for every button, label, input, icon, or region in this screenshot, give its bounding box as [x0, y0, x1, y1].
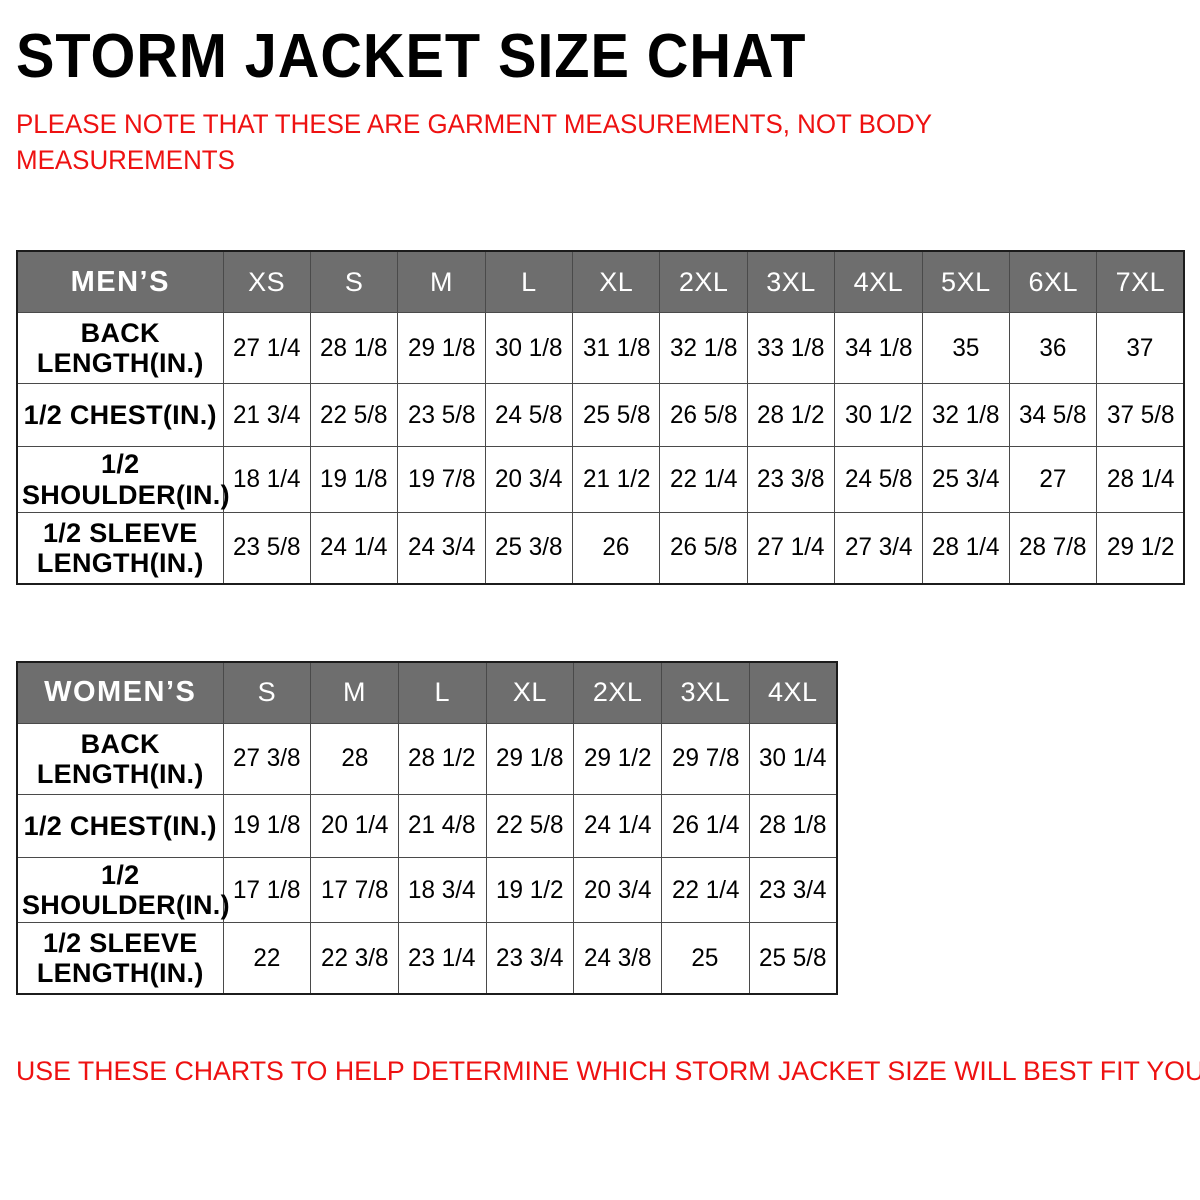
cell: 24 1/4 — [310, 512, 397, 584]
cell: 24 5/8 — [835, 447, 922, 512]
table-row: BACK LENGTH(IN.) 27 1/4 28 1/8 29 1/8 30… — [17, 313, 1184, 384]
mens-table-head: MEN’S XS S M L XL 2XL 3XL 4XL 5XL 6XL 7X… — [17, 251, 1184, 313]
cell: 33 1/8 — [747, 313, 834, 384]
womens-row-label-half-chest: 1/2 CHEST(IN.) — [17, 794, 223, 857]
value: 18 3/4 — [408, 876, 475, 905]
cell: 26 1/4 — [661, 794, 749, 857]
value: 28 1/8 — [320, 334, 387, 363]
mens-col-l: L — [485, 251, 572, 313]
cell: 20 3/4 — [485, 447, 572, 512]
cell: 25 — [661, 923, 749, 995]
value: 22 5/8 — [496, 811, 563, 840]
mens-size-table: MEN’S XS S M L XL 2XL 3XL 4XL 5XL 6XL 7X… — [16, 250, 1185, 584]
cell: 24 3/8 — [574, 923, 662, 995]
womens-table-head: WOMEN’S S M L XL 2XL 3XL 4XL — [17, 662, 837, 724]
label-line-1: BACK — [81, 318, 160, 348]
value: 30 1/8 — [495, 334, 562, 363]
value: 23 5/8 — [408, 401, 475, 430]
cell: 21 3/4 — [223, 384, 310, 447]
value: 29 1/2 — [584, 744, 651, 773]
cell: 20 3/4 — [574, 857, 662, 922]
cell: 36 — [1010, 313, 1097, 384]
mens-col-m: M — [398, 251, 485, 313]
mens-corner-label: MEN’S — [17, 251, 223, 313]
cell: 27 1/4 — [747, 512, 834, 584]
cell: 17 1/8 — [223, 857, 311, 922]
cell: 28 1/8 — [310, 313, 397, 384]
value: 28 7/8 — [1019, 533, 1086, 562]
value: 23 1/4 — [408, 944, 475, 973]
cell: 22 3/8 — [311, 923, 399, 995]
value: 23 5/8 — [233, 533, 300, 562]
mens-col-xl: XL — [573, 251, 660, 313]
value: 20 1/4 — [321, 811, 388, 840]
cell: 25 5/8 — [573, 384, 660, 447]
value: 29 1/8 — [408, 334, 475, 363]
table-row: 1/2 SLEEVE LENGTH(IN.) 23 5/8 24 1/4 24 … — [17, 512, 1184, 584]
mens-row-label-half-chest: 1/2 CHEST(IN.) — [17, 384, 223, 447]
cell: 29 1/8 — [486, 723, 574, 794]
cell: 18 1/4 — [223, 447, 310, 512]
cell: 22 1/4 — [660, 447, 747, 512]
value: 25 3/4 — [932, 465, 999, 494]
cell: 22 5/8 — [486, 794, 574, 857]
cell: 23 1/4 — [398, 923, 486, 995]
cell: 29 1/2 — [1097, 512, 1184, 584]
value: 28 — [341, 744, 368, 773]
value: 21 1/2 — [583, 465, 650, 494]
value: 22 1/4 — [672, 876, 739, 905]
size-chart-page: STORM JACKET SIZE CHAT PLEASE NOTE THAT … — [0, 0, 1200, 1200]
cell: 37 — [1097, 313, 1184, 384]
cell: 25 3/8 — [485, 512, 572, 584]
mens-header-row: MEN’S XS S M L XL 2XL 3XL 4XL 5XL 6XL 7X… — [17, 251, 1184, 313]
page-title: STORM JACKET SIZE CHAT — [16, 0, 1102, 89]
cell: 23 3/4 — [749, 857, 837, 922]
mens-col-xs: XS — [223, 251, 310, 313]
value: 28 1/4 — [1107, 465, 1174, 494]
value: 18 1/4 — [233, 465, 300, 494]
mens-col-5xl: 5XL — [922, 251, 1009, 313]
cell: 29 7/8 — [661, 723, 749, 794]
womens-col-3xl: 3XL — [661, 662, 749, 724]
value: 19 1/2 — [496, 876, 563, 905]
footer-note: USE THESE CHARTS TO HELP DETERMINE WHICH… — [16, 1055, 1200, 1087]
cell: 20 1/4 — [311, 794, 399, 857]
cell: 21 4/8 — [398, 794, 486, 857]
table-row: 1/2 SHOULDER(IN.) 17 1/8 17 7/8 18 3/4 1… — [17, 857, 837, 922]
mens-col-s: S — [310, 251, 397, 313]
cell: 26 5/8 — [660, 384, 747, 447]
cell: 17 7/8 — [311, 857, 399, 922]
cell: 27 — [1010, 447, 1097, 512]
cell: 24 3/4 — [398, 512, 485, 584]
value: 27 1/4 — [757, 533, 824, 562]
value: 26 — [603, 533, 630, 562]
value: 29 1/2 — [1107, 533, 1174, 562]
cell: 18 3/4 — [398, 857, 486, 922]
cell: 29 1/2 — [574, 723, 662, 794]
womens-row-label-half-shoulder: 1/2 SHOULDER(IN.) — [17, 857, 223, 922]
table-row: 1/2 CHEST(IN.) 19 1/8 20 1/4 21 4/8 22 5… — [17, 794, 837, 857]
value: 19 1/8 — [233, 811, 300, 840]
womens-col-m: M — [311, 662, 399, 724]
womens-row-label-half-sleeve-length: 1/2 SLEEVE LENGTH(IN.) — [17, 923, 223, 995]
cell: 30 1/8 — [485, 313, 572, 384]
mens-row-label-half-sleeve-length: 1/2 SLEEVE LENGTH(IN.) — [17, 512, 223, 584]
value: 24 5/8 — [845, 465, 912, 494]
label-line-1: 1/2 CHEST(IN.) — [24, 811, 217, 841]
womens-header-row: WOMEN’S S M L XL 2XL 3XL 4XL — [17, 662, 837, 724]
cell: 23 3/4 — [486, 923, 574, 995]
value: 30 1/2 — [845, 401, 912, 430]
cell: 22 5/8 — [310, 384, 397, 447]
label-line-1: 1/2 SHOULDER(IN.) — [22, 449, 230, 509]
value: 30 1/4 — [759, 744, 826, 773]
cell: 19 7/8 — [398, 447, 485, 512]
mens-col-6xl: 6XL — [1010, 251, 1097, 313]
womens-col-s: S — [223, 662, 311, 724]
cell: 26 — [573, 512, 660, 584]
womens-size-table: WOMEN’S S M L XL 2XL 3XL 4XL BACK LENGTH… — [16, 661, 838, 995]
value: 22 1/4 — [670, 465, 737, 494]
value: 25 5/8 — [759, 944, 826, 973]
value: 27 3/4 — [845, 533, 912, 562]
cell: 34 5/8 — [1010, 384, 1097, 447]
value: 27 3/8 — [233, 744, 300, 773]
cell: 19 1/8 — [223, 794, 311, 857]
womens-table-body: BACK LENGTH(IN.) 27 3/8 28 28 1/2 29 1/8… — [17, 723, 837, 994]
cell: 28 1/4 — [922, 512, 1009, 584]
value: 26 5/8 — [670, 533, 737, 562]
value: 23 3/8 — [757, 465, 824, 494]
value: 34 1/8 — [845, 334, 912, 363]
cell: 23 5/8 — [223, 512, 310, 584]
mens-row-label-back-length: BACK LENGTH(IN.) — [17, 313, 223, 384]
cell: 30 1/4 — [749, 723, 837, 794]
cell: 27 3/4 — [835, 512, 922, 584]
cell: 25 3/4 — [922, 447, 1009, 512]
cell: 22 — [223, 923, 311, 995]
cell: 19 1/2 — [486, 857, 574, 922]
value: 17 1/8 — [233, 876, 300, 905]
value: 27 1/4 — [233, 334, 300, 363]
value: 23 3/4 — [759, 876, 826, 905]
mens-table-body: BACK LENGTH(IN.) 27 1/4 28 1/8 29 1/8 30… — [17, 313, 1184, 584]
value: 21 3/4 — [233, 401, 300, 430]
womens-col-xl: XL — [486, 662, 574, 724]
label-line-2: LENGTH(IN.) — [37, 348, 204, 378]
cell: 28 1/2 — [747, 384, 834, 447]
mens-col-7xl: 7XL — [1097, 251, 1184, 313]
table-row: BACK LENGTH(IN.) 27 3/8 28 28 1/2 29 1/8… — [17, 723, 837, 794]
womens-col-l: L — [398, 662, 486, 724]
value: 19 1/8 — [320, 465, 387, 494]
cell: 34 1/8 — [835, 313, 922, 384]
cell: 31 1/8 — [573, 313, 660, 384]
value: 28 1/4 — [932, 533, 999, 562]
value: 35 — [952, 334, 979, 363]
label-line-1: 1/2 SLEEVE — [43, 928, 198, 958]
label-line-2: LENGTH(IN.) — [37, 759, 204, 789]
label-line-1: BACK — [81, 729, 160, 759]
value: 34 5/8 — [1019, 401, 1086, 430]
cell: 24 5/8 — [485, 384, 572, 447]
value: 24 1/4 — [320, 533, 387, 562]
table-row: 1/2 CHEST(IN.) 21 3/4 22 5/8 23 5/8 24 5… — [17, 384, 1184, 447]
cell: 19 1/8 — [310, 447, 397, 512]
value: 32 1/8 — [932, 401, 999, 430]
cell: 26 5/8 — [660, 512, 747, 584]
value: 22 3/8 — [321, 944, 388, 973]
value: 20 3/4 — [584, 876, 651, 905]
label-line-1: 1/2 SHOULDER(IN.) — [22, 860, 230, 920]
cell: 32 1/8 — [660, 313, 747, 384]
cell: 27 3/8 — [223, 723, 311, 794]
garment-measurement-note: PLEASE NOTE THAT THESE ARE GARMENT MEASU… — [16, 107, 957, 178]
value: 29 1/8 — [496, 744, 563, 773]
value: 21 4/8 — [408, 811, 475, 840]
cell: 35 — [922, 313, 1009, 384]
womens-row-label-back-length: BACK LENGTH(IN.) — [17, 723, 223, 794]
cell: 24 1/4 — [574, 794, 662, 857]
cell: 22 1/4 — [661, 857, 749, 922]
cell: 30 1/2 — [835, 384, 922, 447]
value: 24 1/4 — [584, 811, 651, 840]
mens-col-3xl: 3XL — [747, 251, 834, 313]
cell: 27 1/4 — [223, 313, 310, 384]
value: 25 5/8 — [583, 401, 650, 430]
value: 24 3/8 — [584, 944, 651, 973]
table-row: 1/2 SLEEVE LENGTH(IN.) 22 22 3/8 23 1/4 … — [17, 923, 837, 995]
value: 33 1/8 — [757, 334, 824, 363]
value: 17 7/8 — [321, 876, 388, 905]
value: 20 3/4 — [495, 465, 562, 494]
mens-row-label-half-shoulder: 1/2 SHOULDER(IN.) — [17, 447, 223, 512]
label-line-1: 1/2 CHEST(IN.) — [24, 400, 217, 430]
cell: 28 1/4 — [1097, 447, 1184, 512]
cell: 23 5/8 — [398, 384, 485, 447]
value: 19 7/8 — [408, 465, 475, 494]
womens-col-4xl: 4XL — [749, 662, 837, 724]
value: 22 — [253, 944, 280, 973]
cell: 28 1/8 — [749, 794, 837, 857]
value: 28 1/2 — [757, 401, 824, 430]
value: 26 1/4 — [672, 811, 739, 840]
table-row: 1/2 SHOULDER(IN.) 18 1/4 19 1/8 19 7/8 2… — [17, 447, 1184, 512]
value: 32 1/8 — [670, 334, 737, 363]
cell: 23 3/8 — [747, 447, 834, 512]
value: 22 5/8 — [320, 401, 387, 430]
value: 27 — [1040, 465, 1067, 494]
cell: 28 1/2 — [398, 723, 486, 794]
value: 24 5/8 — [495, 401, 562, 430]
value: 36 — [1040, 334, 1067, 363]
label-line-2: LENGTH(IN.) — [37, 958, 204, 988]
label-line-1: 1/2 SLEEVE — [43, 518, 198, 548]
womens-corner-label: WOMEN’S — [17, 662, 223, 724]
womens-col-2xl: 2XL — [574, 662, 662, 724]
value: 31 1/8 — [583, 334, 650, 363]
value: 25 3/8 — [495, 533, 562, 562]
label-line-2: LENGTH(IN.) — [37, 548, 204, 578]
value: 24 3/4 — [408, 533, 475, 562]
cell: 37 5/8 — [1097, 384, 1184, 447]
cell: 28 — [311, 723, 399, 794]
value: 23 3/4 — [496, 944, 563, 973]
cell: 25 5/8 — [749, 923, 837, 995]
cell: 32 1/8 — [922, 384, 1009, 447]
value: 28 1/8 — [759, 811, 826, 840]
value: 29 7/8 — [672, 744, 739, 773]
mens-col-2xl: 2XL — [660, 251, 747, 313]
value: 28 1/2 — [408, 744, 475, 773]
cell: 21 1/2 — [573, 447, 660, 512]
cell: 29 1/8 — [398, 313, 485, 384]
value: 26 5/8 — [670, 401, 737, 430]
mens-col-4xl: 4XL — [835, 251, 922, 313]
value: 37 5/8 — [1107, 401, 1174, 430]
cell: 28 7/8 — [1010, 512, 1097, 584]
value: 37 — [1127, 334, 1154, 363]
value: 25 — [692, 944, 719, 973]
